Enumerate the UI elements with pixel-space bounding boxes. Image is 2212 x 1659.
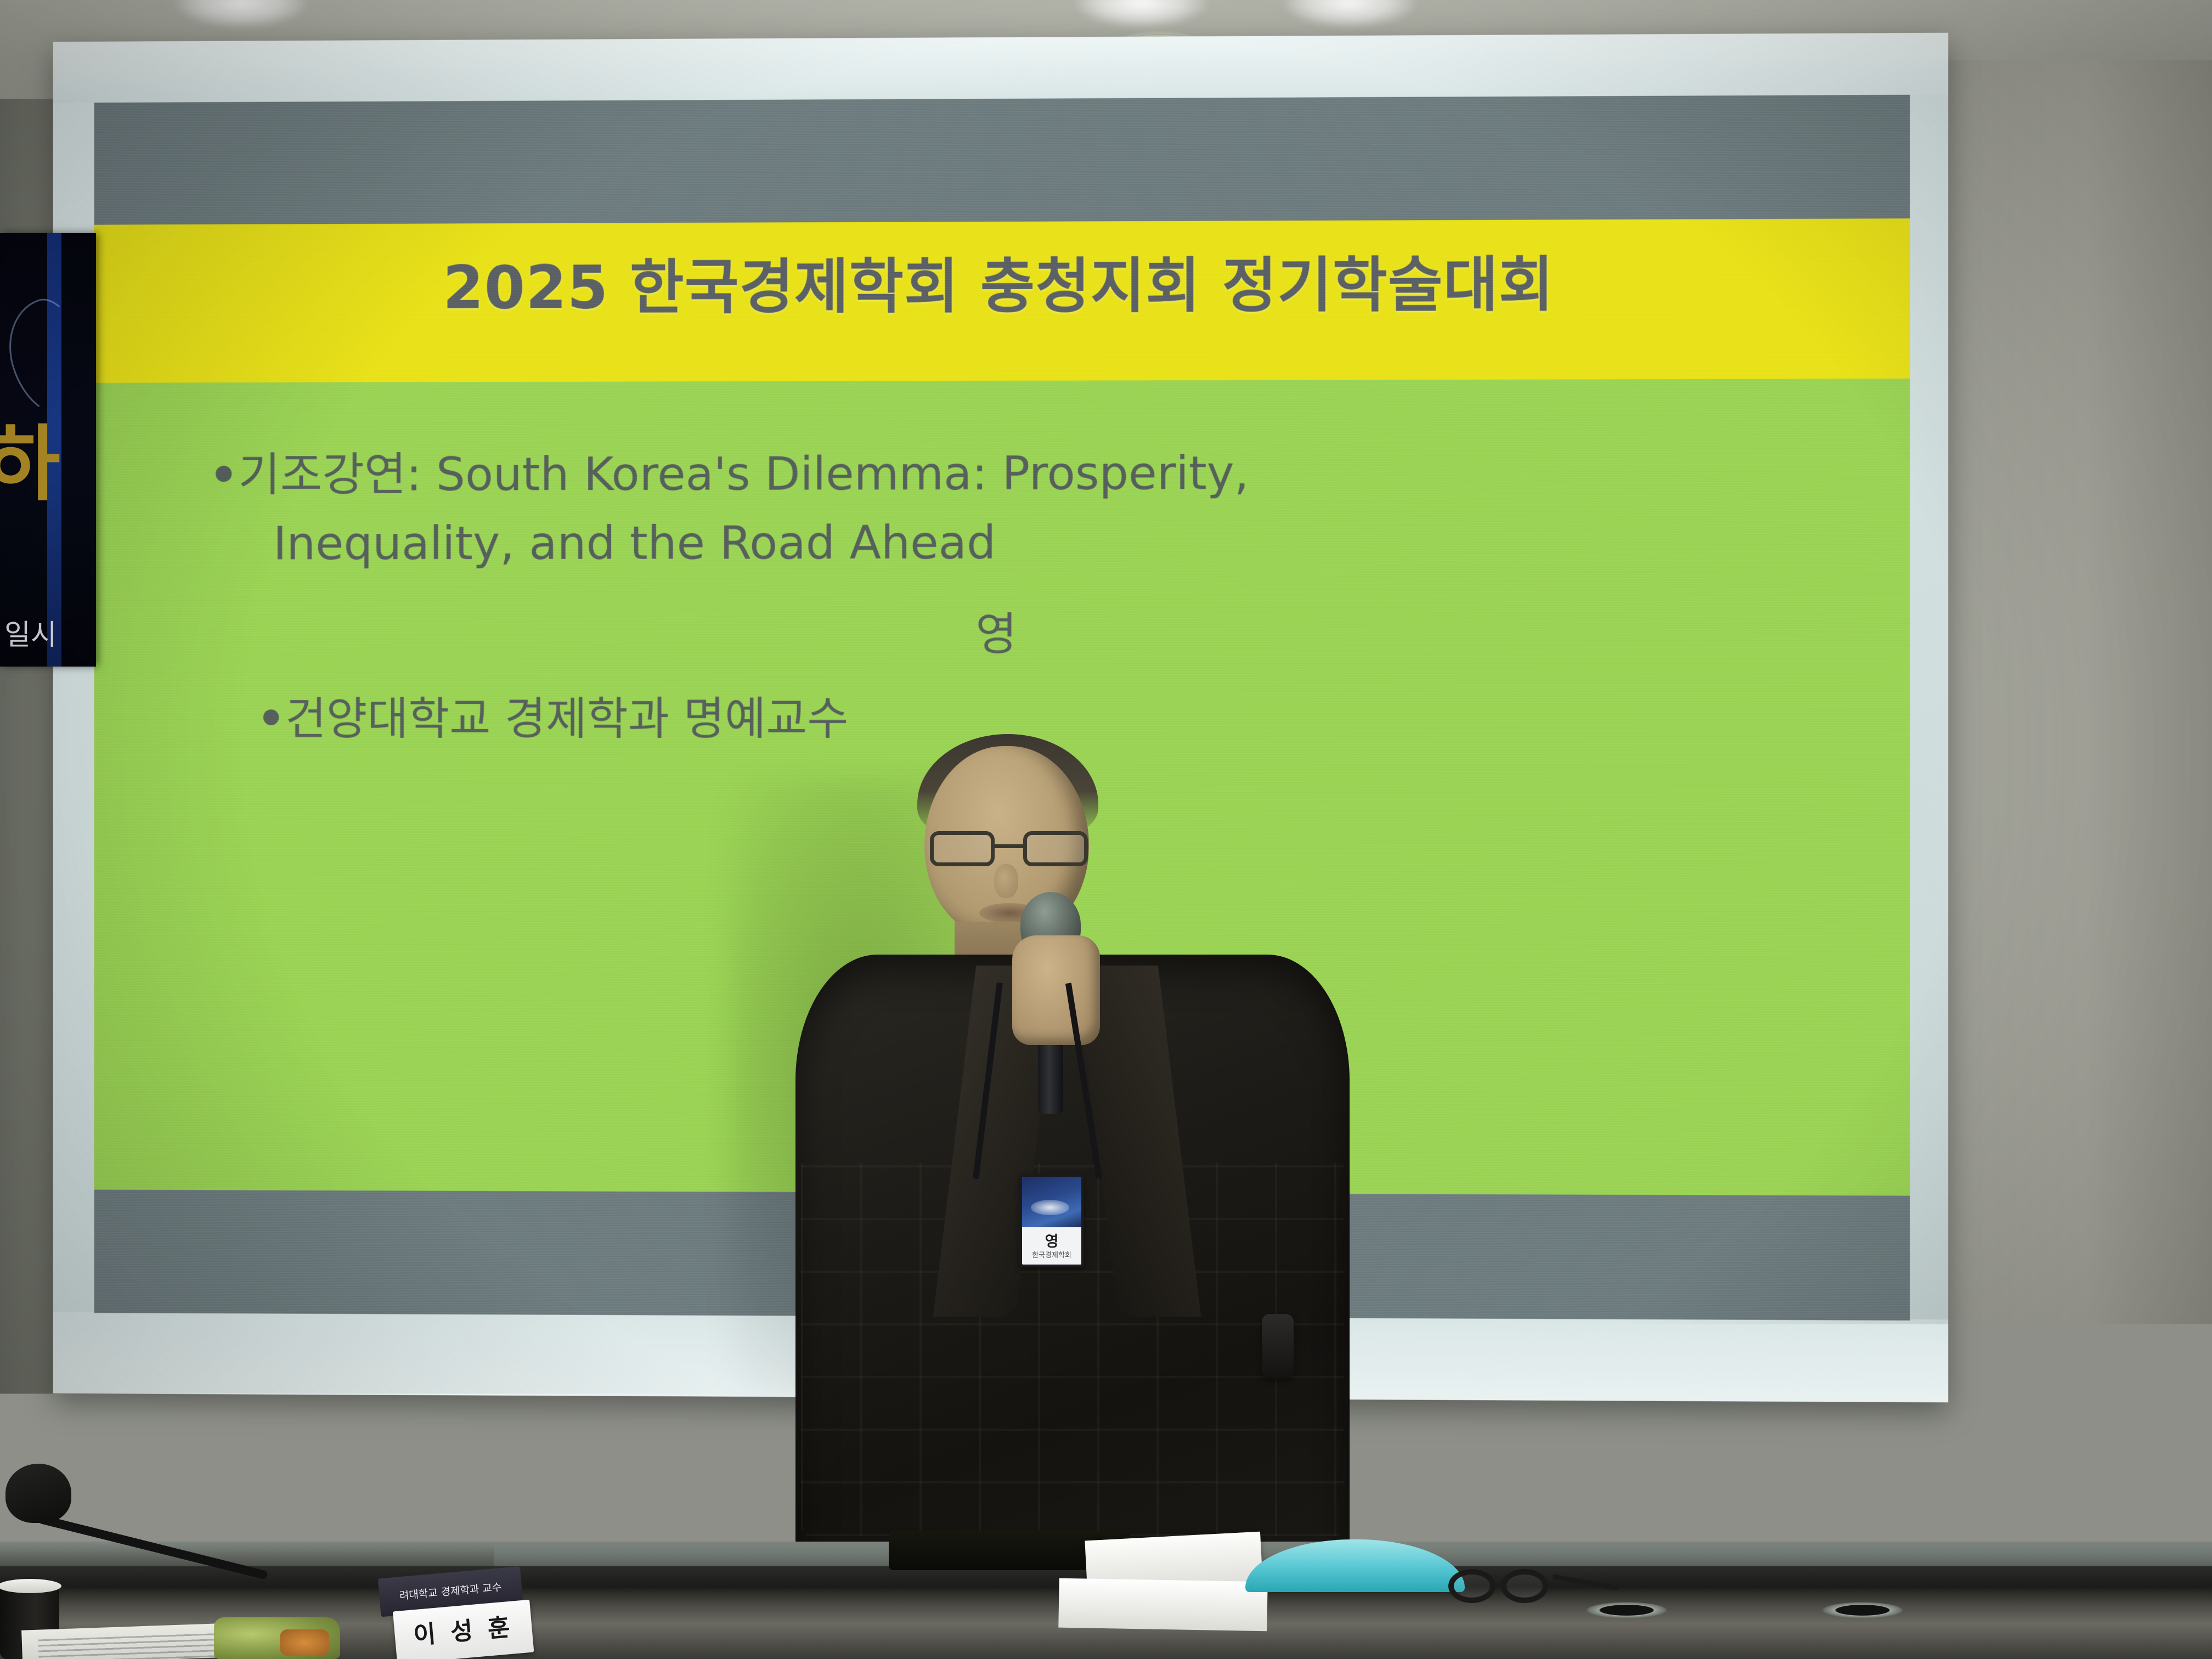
banner-headline-char: 하	[0, 398, 60, 517]
mic-capsule	[5, 1464, 71, 1523]
badge-photo-icon	[1022, 1177, 1081, 1227]
lens-left	[1448, 1569, 1496, 1603]
roll-up-banner: 하 일시	[0, 233, 96, 667]
mic-arm	[37, 1514, 268, 1580]
slide-band-top	[94, 95, 1910, 225]
presentation-clicker	[1262, 1314, 1294, 1379]
banner-subtext: 일시	[4, 612, 57, 653]
speaker-person: 영 한국경제학회	[790, 746, 1355, 1558]
name-badge: 영 한국경제학회	[1019, 1174, 1084, 1267]
table-grommet	[1580, 1601, 1673, 1620]
mic-capsule	[2028, 1407, 2120, 1510]
speaker-nose	[994, 864, 1018, 898]
glasses-bridge	[995, 844, 1023, 848]
paper-stack	[1058, 1578, 1268, 1632]
badge-name-text: 영	[1022, 1229, 1081, 1251]
speaker-hand	[1012, 935, 1100, 1045]
bullet-icon: •	[209, 448, 238, 502]
eyeglasses-on-table	[1448, 1569, 1585, 1607]
flower-arrangement	[214, 1617, 340, 1659]
slide-body-line: •기조강연: South Korea's Dilemma: Prosperity…	[94, 437, 1910, 510]
slide-body-line: 영	[94, 600, 1910, 670]
badge-org-text: 한국경제학회	[1022, 1249, 1081, 1260]
left-gooseneck-microphone	[38, 1514, 291, 1580]
right-gooseneck-microphone	[1898, 1404, 2140, 1659]
slide-body-line: Inequality, and the Road Ahead	[94, 507, 1910, 578]
lens-left	[930, 831, 995, 866]
open-booklet	[1245, 1531, 1476, 1596]
speaker-eyeglasses-icon	[930, 831, 1088, 866]
slide-body-text: 영	[975, 608, 1017, 661]
lens-right	[1501, 1569, 1548, 1603]
water-bottle-cap	[2151, 1613, 2194, 1659]
photo-scene: 2025 한국경제학회 충청지회 정기학술대회 •기조강연: South Kor…	[0, 0, 2212, 1659]
lens-right	[1023, 831, 1088, 866]
table-grommet	[1816, 1601, 1909, 1620]
mic-base	[1876, 1643, 1970, 1659]
booklet-cover	[1245, 1539, 1465, 1592]
screen-border-top	[53, 33, 1949, 103]
desk-nameplate: 려대학교 경제학과 교수 이 성 훈	[378, 1566, 528, 1659]
slide-title: 2025 한국경제학회 충청지회 정기학술대회	[94, 235, 1910, 326]
slide-body-text: 기조강연: South Korea's Dilemma: Prosperity,	[238, 446, 1249, 501]
bullet-icon: •	[257, 693, 285, 745]
slide-body-text: 건양대학교 경제학과 명예교수	[285, 693, 848, 745]
slide-body-text: Inequality, and the Road Ahead	[273, 516, 996, 570]
